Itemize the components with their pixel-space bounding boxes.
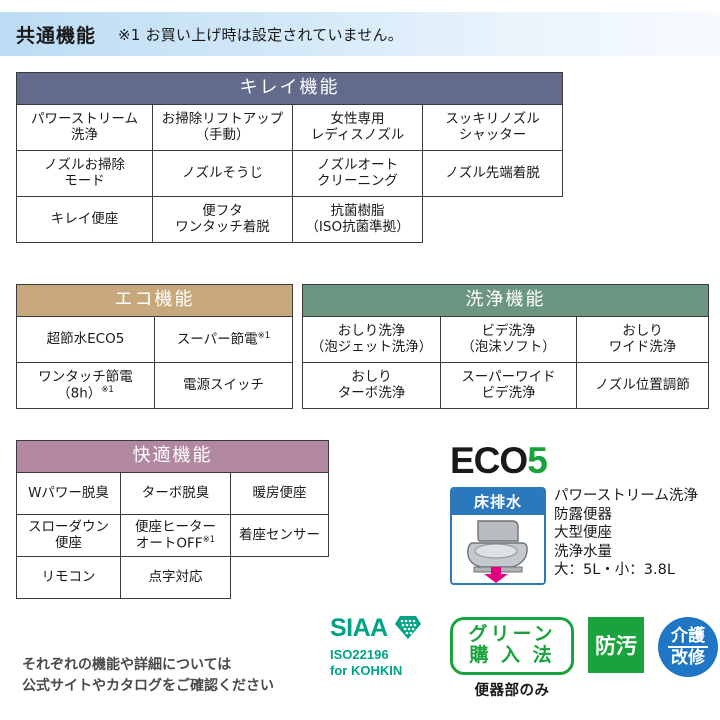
table-title-sensei: 洗浄機能 bbox=[303, 285, 709, 317]
table-row: おしり洗浄（泡ジェット洗浄） ビデ洗浄（泡沫ソフト） おしりワイド洗浄 bbox=[303, 316, 709, 362]
feature-cell: ノズルお掃除モード bbox=[17, 150, 153, 196]
eco5-spec-item: 大型便座 bbox=[554, 524, 698, 543]
feature-cell: リモコン bbox=[17, 556, 121, 598]
eco5-spec-item: 大：5L・小：3.8L bbox=[554, 561, 698, 580]
eco5-spec-item: パワーストリーム洗浄 bbox=[554, 487, 698, 506]
feature-cell: パワーストリーム洗浄 bbox=[17, 104, 153, 150]
table-row: リモコン 点字対応 bbox=[17, 556, 329, 598]
feature-cell: ノズル位置調節 bbox=[577, 362, 709, 408]
table-row: Wパワー脱臭 ターボ脱臭 暖房便座 bbox=[17, 472, 329, 514]
toilet-silhouette-icon bbox=[452, 515, 544, 583]
feature-cell: キレイ便座 bbox=[17, 196, 153, 242]
table-row: おしりターボ洗浄 スーパーワイドビデ洗浄 ノズル位置調節 bbox=[303, 362, 709, 408]
feature-cell: 電源スイッチ bbox=[155, 362, 293, 408]
feature-cell: 点字対応 bbox=[121, 556, 231, 598]
floor-drain-toilet-icon: 床排水 bbox=[450, 487, 546, 585]
header-footnote: ※1 お買い上げ時は設定されていません。 bbox=[118, 24, 403, 45]
empty-cell bbox=[231, 556, 329, 598]
table-row: ワンタッチ節電（8h）※1 電源スイッチ bbox=[17, 362, 293, 408]
table-row: スローダウン便座 便座ヒーターオートOFF※1 着座センサー bbox=[17, 514, 329, 556]
siaa-iso-number: ISO22196 bbox=[330, 647, 438, 663]
table-row: キレイ便座 便フタワンタッチ着脱 抗菌樹脂（ISO抗菌準拠） bbox=[17, 196, 563, 242]
nursing-care-renovation-badge: 介護 改修 bbox=[658, 617, 718, 677]
eco5-spec-item: 洗浄水量 bbox=[554, 543, 698, 562]
eco5-spec-item: 防露便器 bbox=[554, 506, 698, 525]
table-title-kirei: キレイ機能 bbox=[17, 73, 563, 105]
feature-cell: スーパーワイドビデ洗浄 bbox=[441, 362, 577, 408]
table-row: ノズルお掃除モード ノズルそうじ ノズルオートクリーニング ノズル先端着脱 bbox=[17, 150, 563, 196]
eco5-logo: ECO5 bbox=[450, 442, 712, 479]
toilet-svg bbox=[452, 515, 544, 583]
eco5-block: ECO5 床排水 パワーストリーム洗浄 防露便器 大型便座 bbox=[450, 442, 712, 585]
feature-cell: 着座センサー bbox=[231, 514, 329, 556]
feature-cell: 便フタワンタッチ着脱 bbox=[153, 196, 293, 242]
table-title-kaiteki: 快適機能 bbox=[17, 441, 329, 473]
table-title-eco: エコ機能 bbox=[17, 285, 293, 317]
table-header-row: エコ機能 bbox=[17, 285, 293, 317]
drain-icon-label: 床排水 bbox=[452, 489, 544, 515]
feature-cell: おしりターボ洗浄 bbox=[303, 362, 441, 408]
page-header-bar: 共通機能 ※1 お買い上げ時は設定されていません。 bbox=[0, 12, 720, 56]
page-title: 共通機能 bbox=[16, 21, 96, 48]
certification-badges: SIAA ISO22196 for KOHKIN グリーン 購 入 法 便器部の… bbox=[330, 617, 718, 700]
feature-cell: ノズルオートクリーニング bbox=[293, 150, 423, 196]
table-header-row: 洗浄機能 bbox=[303, 285, 709, 317]
feature-cell: 抗菌樹脂（ISO抗菌準拠） bbox=[293, 196, 423, 242]
feature-cell: おしりワイド洗浄 bbox=[577, 316, 709, 362]
siaa-badge: SIAA ISO22196 for KOHKIN bbox=[330, 617, 438, 680]
feature-table-kirei: キレイ機能 パワーストリーム洗浄 お掃除リフトアップ（手動） 女性専用レディスノ… bbox=[16, 72, 563, 243]
bottom-note: それぞれの機能や詳細については 公式サイトやカタログをご確認ください bbox=[22, 655, 274, 697]
antifouling-badge: 防汚 bbox=[588, 617, 644, 673]
table-row: 超節水ECO5 スーパー節電※1 bbox=[17, 316, 293, 362]
kaigo-badge-line1: 介護 bbox=[671, 628, 705, 645]
feature-cell: スッキリノズルシャッター bbox=[423, 104, 563, 150]
green-badge-line1: グリーン bbox=[453, 624, 571, 645]
feature-table-sensei: 洗浄機能 おしり洗浄（泡ジェット洗浄） ビデ洗浄（泡沫ソフト） おしりワイド洗浄… bbox=[302, 284, 709, 409]
eco5-logo-word: ECO bbox=[450, 440, 527, 481]
feature-cell: お掃除リフトアップ（手動） bbox=[153, 104, 293, 150]
green-badge-caption: 便器部のみ bbox=[450, 679, 574, 700]
green-purchasing-badge: グリーン 購 入 法 便器部のみ bbox=[450, 617, 574, 700]
feature-cell: スーパー節電※1 bbox=[155, 316, 293, 362]
antifouling-box: 防汚 bbox=[588, 617, 644, 673]
eco5-spec-list: パワーストリーム洗浄 防露便器 大型便座 洗浄水量 大：5L・小：3.8L bbox=[554, 487, 698, 580]
feature-cell: ビデ洗浄（泡沫ソフト） bbox=[441, 316, 577, 362]
siaa-kohkin-label: for KOHKIN bbox=[330, 663, 438, 679]
nursing-care-circle: 介護 改修 bbox=[658, 617, 718, 677]
feature-cell: スローダウン便座 bbox=[17, 514, 121, 556]
feature-cell: 便座ヒーターオートOFF※1 bbox=[121, 514, 231, 556]
feature-cell: 超節水ECO5 bbox=[17, 316, 155, 362]
siaa-wordmark: SIAA bbox=[330, 617, 388, 641]
green-badge-line2: 購 入 法 bbox=[453, 645, 571, 666]
feature-cell: おしり洗浄（泡ジェット洗浄） bbox=[303, 316, 441, 362]
bottom-note-line2: 公式サイトやカタログをご確認ください bbox=[22, 676, 274, 697]
feature-cell: 暖房便座 bbox=[231, 472, 329, 514]
feature-cell: ノズルそうじ bbox=[153, 150, 293, 196]
eco5-logo-number: 5 bbox=[527, 440, 547, 481]
feature-cell: Wパワー脱臭 bbox=[17, 472, 121, 514]
feature-cell: ワンタッチ節電（8h）※1 bbox=[17, 362, 155, 408]
bottom-note-line1: それぞれの機能や詳細については bbox=[22, 655, 274, 676]
table-row: パワーストリーム洗浄 お掃除リフトアップ（手動） 女性専用レディスノズル スッキ… bbox=[17, 104, 563, 150]
feature-cell: 女性専用レディスノズル bbox=[293, 104, 423, 150]
siaa-arrow-icon bbox=[386, 615, 422, 645]
feature-cell: ノズル先端着脱 bbox=[423, 150, 563, 196]
feature-table-kaiteki: 快適機能 Wパワー脱臭 ターボ脱臭 暖房便座 スローダウン便座 便座ヒーターオー… bbox=[16, 440, 329, 599]
green-purchasing-box: グリーン 購 入 法 bbox=[450, 617, 574, 675]
kaigo-badge-line2: 改修 bbox=[671, 650, 705, 667]
table-header-row: キレイ機能 bbox=[17, 73, 563, 105]
feature-cell: ターボ脱臭 bbox=[121, 472, 231, 514]
feature-table-eco: エコ機能 超節水ECO5 スーパー節電※1 ワンタッチ節電（8h）※1 電源スイ… bbox=[16, 284, 293, 409]
table-header-row: 快適機能 bbox=[17, 441, 329, 473]
empty-cell bbox=[423, 196, 563, 242]
